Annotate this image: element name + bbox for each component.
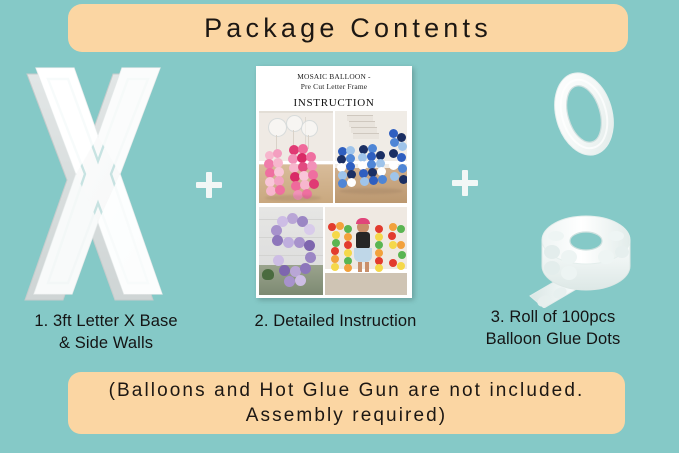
floor-shadow bbox=[339, 188, 403, 194]
balloon bbox=[375, 233, 383, 241]
glue-dot bbox=[598, 250, 614, 264]
glue-dot bbox=[615, 246, 629, 258]
balloon bbox=[344, 241, 352, 249]
child-leg bbox=[365, 262, 369, 272]
glue-roll-graphic bbox=[528, 200, 658, 308]
stair-step bbox=[353, 133, 379, 139]
balloon bbox=[397, 241, 405, 249]
item-3-caption-line-1: 3. Roll of 100pcs bbox=[440, 306, 666, 328]
balloon bbox=[360, 177, 369, 186]
glue-dot bbox=[561, 250, 577, 264]
balloon bbox=[398, 164, 407, 173]
card-subtitle-line-2: Pre Cut Letter Frame bbox=[260, 82, 408, 92]
balloon bbox=[331, 247, 339, 255]
balloon bbox=[304, 224, 315, 235]
child-leg bbox=[358, 262, 362, 272]
balloon bbox=[305, 252, 316, 263]
balloon bbox=[344, 264, 352, 272]
balloon bbox=[347, 178, 356, 187]
product-letter-x bbox=[12, 62, 182, 307]
photo-rainbow-this-letters bbox=[325, 207, 407, 295]
photo-row-top bbox=[259, 111, 409, 203]
balloon bbox=[328, 223, 336, 231]
floor bbox=[325, 273, 407, 295]
item-3-caption-line-2: Balloon Glue Dots bbox=[440, 328, 666, 350]
glue-ring-graphic bbox=[551, 68, 617, 160]
balloon bbox=[375, 241, 383, 249]
instruction-card-photos bbox=[259, 111, 409, 295]
balloon-stick bbox=[308, 135, 309, 149]
item-1-caption-line-2: & Side Walls bbox=[6, 332, 206, 354]
balloon bbox=[378, 175, 387, 184]
floor-shadow bbox=[265, 195, 321, 201]
title-banner: Package Contents bbox=[68, 4, 628, 52]
balloon bbox=[344, 225, 352, 233]
plant bbox=[262, 269, 274, 280]
product-glue-dot-roll bbox=[528, 200, 658, 308]
balloon bbox=[332, 231, 340, 239]
balloon bbox=[397, 225, 405, 233]
glue-dot bbox=[544, 261, 560, 275]
photo-pink-numbers bbox=[259, 111, 333, 203]
balloon bbox=[397, 262, 405, 270]
item-1-caption: 1. 3ft Letter X Base & Side Walls bbox=[6, 310, 206, 355]
photo-blue-one-letters bbox=[335, 111, 407, 203]
balloon bbox=[375, 225, 383, 233]
balloon bbox=[375, 264, 383, 272]
glue-dot bbox=[548, 231, 564, 241]
child-top bbox=[356, 232, 370, 249]
clear-balloon bbox=[301, 120, 318, 137]
balloon bbox=[300, 263, 311, 274]
card-title: INSTRUCTION bbox=[260, 97, 408, 109]
balloon bbox=[398, 142, 407, 151]
balloon bbox=[399, 175, 407, 184]
balloon bbox=[389, 259, 397, 267]
page-title: Package Contents bbox=[204, 15, 492, 42]
infographic-canvas: Package Contents bbox=[0, 0, 679, 453]
footer-note: (Balloons and Hot Glue Gun are not inclu… bbox=[68, 378, 625, 428]
letter-x-graphic bbox=[12, 62, 182, 307]
child-skirt bbox=[354, 248, 372, 262]
balloon bbox=[272, 235, 283, 246]
balloon bbox=[279, 265, 290, 276]
glue-dot bbox=[561, 266, 577, 280]
instruction-card-header: MOSAIC BALLOON - Pre Cut Letter Frame IN… bbox=[256, 66, 412, 111]
plus-bar-vertical bbox=[462, 170, 468, 196]
balloon bbox=[273, 149, 282, 158]
balloon bbox=[397, 153, 406, 162]
balloon bbox=[390, 172, 399, 181]
balloon bbox=[389, 161, 398, 170]
balloon bbox=[304, 240, 315, 251]
product-glue-dot-ring bbox=[551, 68, 617, 160]
item-1-caption-line-1: 1. 3ft Letter X Base bbox=[6, 310, 206, 332]
balloon bbox=[332, 239, 340, 247]
child-headband bbox=[356, 218, 370, 224]
balloon bbox=[344, 249, 352, 257]
balloon bbox=[284, 276, 295, 287]
clear-balloon bbox=[268, 118, 287, 137]
wall-trim bbox=[259, 111, 333, 113]
photo-row-bottom bbox=[259, 207, 409, 295]
balloon bbox=[283, 237, 294, 248]
plus-bar-vertical bbox=[206, 172, 212, 198]
balloon bbox=[338, 179, 347, 188]
balloon bbox=[331, 263, 339, 271]
balloon bbox=[331, 255, 339, 263]
item-2-caption-line-1: 2. Detailed Instruction bbox=[228, 310, 443, 332]
glue-dot bbox=[608, 231, 624, 241]
plus-icon-2 bbox=[452, 170, 478, 196]
balloon bbox=[375, 249, 383, 257]
item-3-caption: 3. Roll of 100pcs Balloon Glue Dots bbox=[440, 306, 666, 351]
balloon bbox=[309, 179, 319, 189]
photo-purple-letter-s bbox=[259, 207, 323, 295]
balloon bbox=[275, 185, 285, 195]
footer-banner: (Balloons and Hot Glue Gun are not inclu… bbox=[68, 372, 625, 434]
balloon bbox=[388, 232, 396, 240]
balloon bbox=[336, 222, 344, 230]
item-2-caption: 2. Detailed Instruction bbox=[228, 310, 443, 332]
product-instruction-card: MOSAIC BALLOON - Pre Cut Letter Frame IN… bbox=[256, 66, 412, 298]
balloon bbox=[389, 241, 397, 249]
card-subtitle-line-1: MOSAIC BALLOON - bbox=[260, 72, 408, 82]
balloon bbox=[389, 223, 397, 231]
balloon bbox=[344, 233, 352, 241]
balloon bbox=[369, 176, 378, 185]
balloon bbox=[295, 275, 306, 286]
balloon bbox=[398, 251, 406, 259]
glue-dot bbox=[544, 245, 560, 259]
plus-icon-1 bbox=[196, 172, 222, 198]
